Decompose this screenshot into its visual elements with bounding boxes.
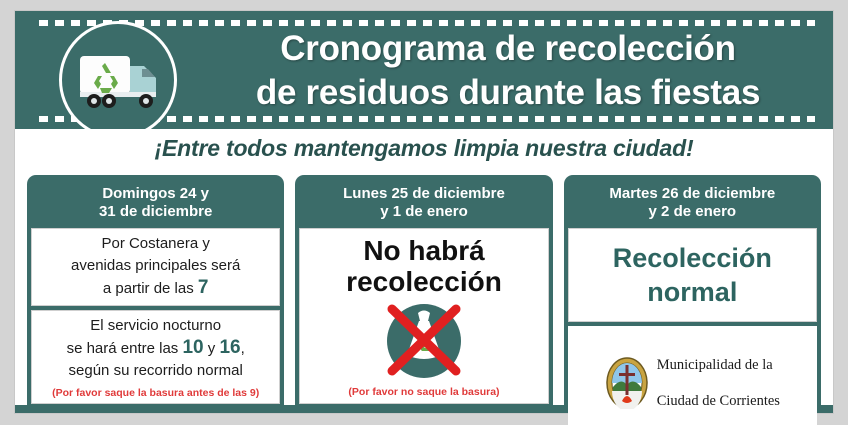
card-header-line-1: Domingos 24 y — [35, 185, 276, 203]
info-box-daytime: Por Costanera y avenidas principales ser… — [31, 228, 280, 306]
night-hour-from: 10 — [182, 337, 203, 358]
no-collection-line-1: No habrá — [363, 235, 484, 266]
card-body-tuesday: Recolección normal — [568, 228, 817, 425]
schedule-card-sunday: Domingos 24 y 31 de diciembre Por Costan… — [27, 175, 284, 408]
recycling-truck-badge — [59, 21, 177, 139]
night-line-1: El servicio nocturno — [90, 315, 221, 337]
card-body-monday: No habrá recolección — [299, 228, 548, 404]
logo-line-1: Municipalidad de la — [657, 356, 780, 374]
normal-line-2: normal — [647, 275, 737, 309]
municipality-logo-text: Municipalidad de la Ciudad de Corrientes — [657, 338, 780, 425]
daytime-hour: 7 — [198, 277, 209, 298]
municipality-logo: Municipalidad de la Ciudad de Corrientes — [605, 338, 780, 425]
corrientes-coat-of-arms-icon — [605, 357, 649, 409]
night-hour-to: 16 — [219, 337, 240, 358]
daytime-line-1: Por Costanera y — [101, 233, 209, 255]
night-line-3: según su recorrido normal — [69, 360, 243, 382]
title-line-1: Cronograma de recolección — [190, 27, 826, 71]
no-collection-line-2: recolección — [346, 266, 502, 297]
normal-line-1: Recolección — [613, 241, 772, 275]
title-line-2: de residuos durante las fiestas — [190, 71, 826, 115]
schedule-columns: Domingos 24 y 31 de diciembre Por Costan… — [27, 175, 821, 405]
night-mid: y — [204, 340, 220, 357]
daytime-prefix: a partir de las — [103, 280, 198, 297]
body-area: ¡Entre todos mantengamos limpia nuestra … — [15, 129, 833, 405]
card-header-tuesday: Martes 26 de diciembre y 2 de enero — [568, 179, 817, 228]
logo-line-2: Ciudad de Corrientes — [657, 392, 780, 410]
header-band: Cronograma de recolección de residuos du… — [15, 11, 833, 129]
note-sunday: (Por favor saque la basura antes de las … — [52, 387, 259, 399]
info-box-normal-collection: Recolección normal — [568, 228, 817, 322]
card-header-monday: Lunes 25 de diciembre y 1 de enero — [299, 179, 548, 228]
card-header-line-1: Lunes 25 de diciembre — [303, 185, 544, 203]
card-header-line-2: 31 de diciembre — [35, 203, 276, 221]
info-box-no-collection: No habrá recolección — [299, 228, 548, 404]
poster-root: Cronograma de recolección de residuos du… — [0, 0, 848, 425]
night-suffix: , — [241, 340, 245, 357]
poster-title: Cronograma de recolección de residuos du… — [190, 27, 826, 115]
card-body-sunday: Por Costanera y avenidas principales ser… — [31, 228, 280, 404]
card-header-line-2: y 2 de enero — [572, 203, 813, 221]
recycling-truck-icon — [78, 52, 166, 114]
card-header-line-1: Martes 26 de diciembre — [572, 185, 813, 203]
schedule-card-tuesday: Martes 26 de diciembre y 2 de enero Reco… — [564, 175, 821, 408]
daytime-line-3: a partir de las 7 — [103, 277, 209, 300]
card-header-sunday: Domingos 24 y 31 de diciembre — [31, 179, 280, 228]
poster-subtitle: ¡Entre todos mantengamos limpia nuestra … — [15, 135, 833, 162]
note-monday: (Por favor no saque la basura) — [348, 386, 499, 398]
schedule-card-monday: Lunes 25 de diciembre y 1 de enero No ha… — [295, 175, 552, 408]
logo-area: Municipalidad de la Ciudad de Corrientes — [568, 326, 817, 425]
night-prefix: se hará entre las — [67, 340, 183, 357]
night-line-2: se hará entre las 10 y 16, — [67, 337, 245, 360]
poster-frame: Cronograma de recolección de residuos du… — [14, 10, 834, 414]
crossed-out-trash-bag-icon — [382, 301, 466, 381]
daytime-line-2: avenidas principales será — [71, 255, 240, 277]
dashed-divider-top — [39, 20, 815, 26]
info-box-night: El servicio nocturno se hará entre las 1… — [31, 310, 280, 405]
card-header-line-2: y 1 de enero — [303, 203, 544, 221]
